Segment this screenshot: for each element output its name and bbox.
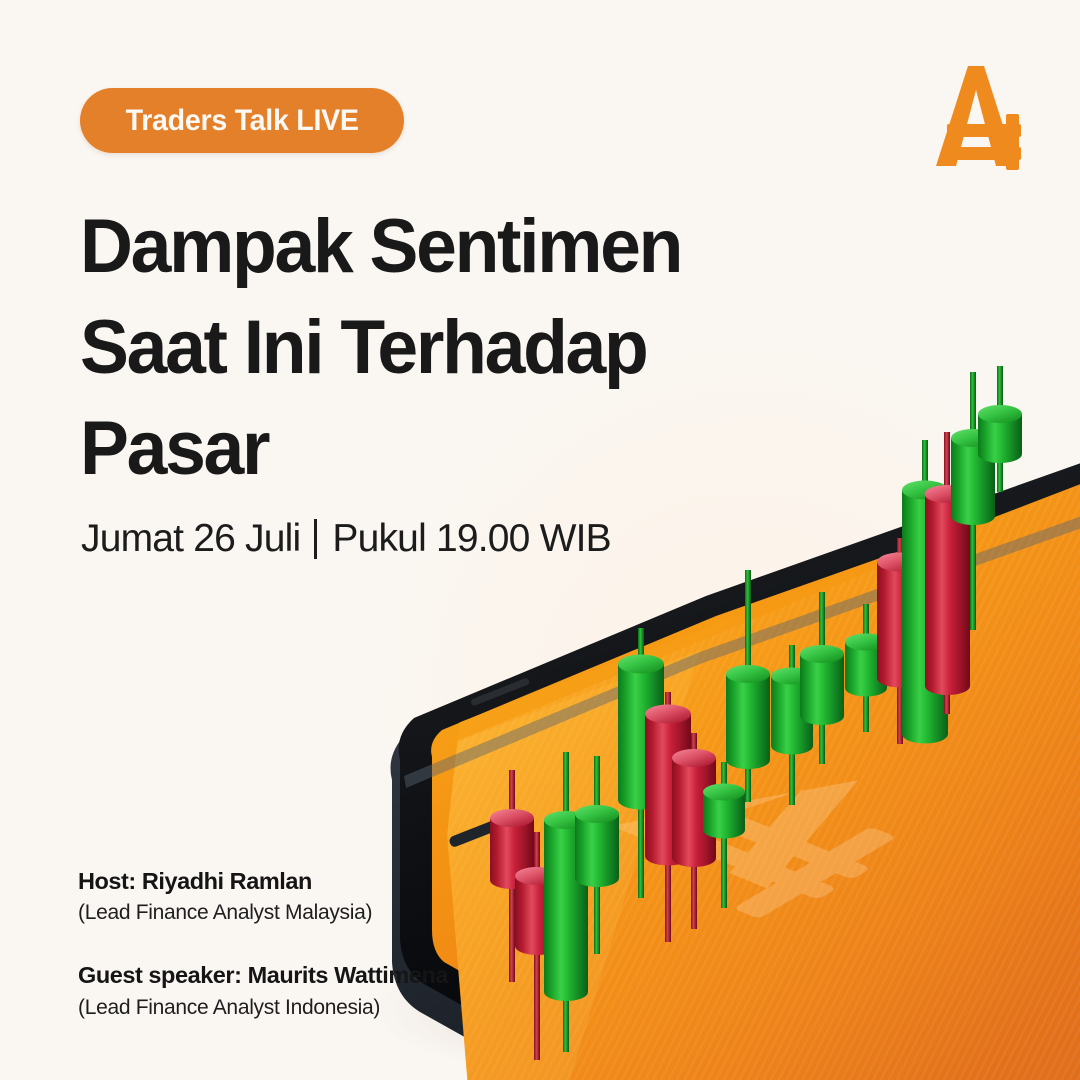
schedule-separator xyxy=(314,519,317,559)
event-time: Pukul 19.00 WIB xyxy=(332,517,610,561)
logo-a-currency-icon xyxy=(928,62,1034,170)
credit-host: Host: Riyadhi Ramlan (Lead Finance Analy… xyxy=(78,866,548,927)
guest-speaker-name: Guest speaker: Maurits Wattimena xyxy=(78,960,548,990)
event-date: Jumat 26 Juli xyxy=(81,517,300,561)
promo-poster: Traders Talk LIVE Dampak Sentimen Saat I… xyxy=(0,0,1080,1080)
host-role: (Lead Finance Analyst Malaysia) xyxy=(78,899,548,927)
credit-guest-speaker: Guest speaker: Maurits Wattimena (Lead F… xyxy=(78,960,548,1021)
event-schedule: Jumat 26 Juli Pukul 19.00 WIB xyxy=(81,517,611,561)
speaker-credits: Host: Riyadhi Ramlan (Lead Finance Analy… xyxy=(78,866,548,1022)
page-title: Dampak Sentimen Saat Ini Terhadap Pasar xyxy=(80,196,775,499)
host-name: Host: Riyadhi Ramlan xyxy=(78,866,548,896)
page-title-line-2: Saat Ini Terhadap xyxy=(80,297,775,398)
page-title-line-3: Pasar xyxy=(80,398,775,499)
guest-speaker-role: (Lead Finance Analyst Indonesia) xyxy=(78,994,548,1022)
live-badge-label: Traders Talk LIVE xyxy=(126,104,359,138)
page-title-line-1: Dampak Sentimen xyxy=(80,196,775,297)
live-badge[interactable]: Traders Talk LIVE xyxy=(80,88,404,153)
